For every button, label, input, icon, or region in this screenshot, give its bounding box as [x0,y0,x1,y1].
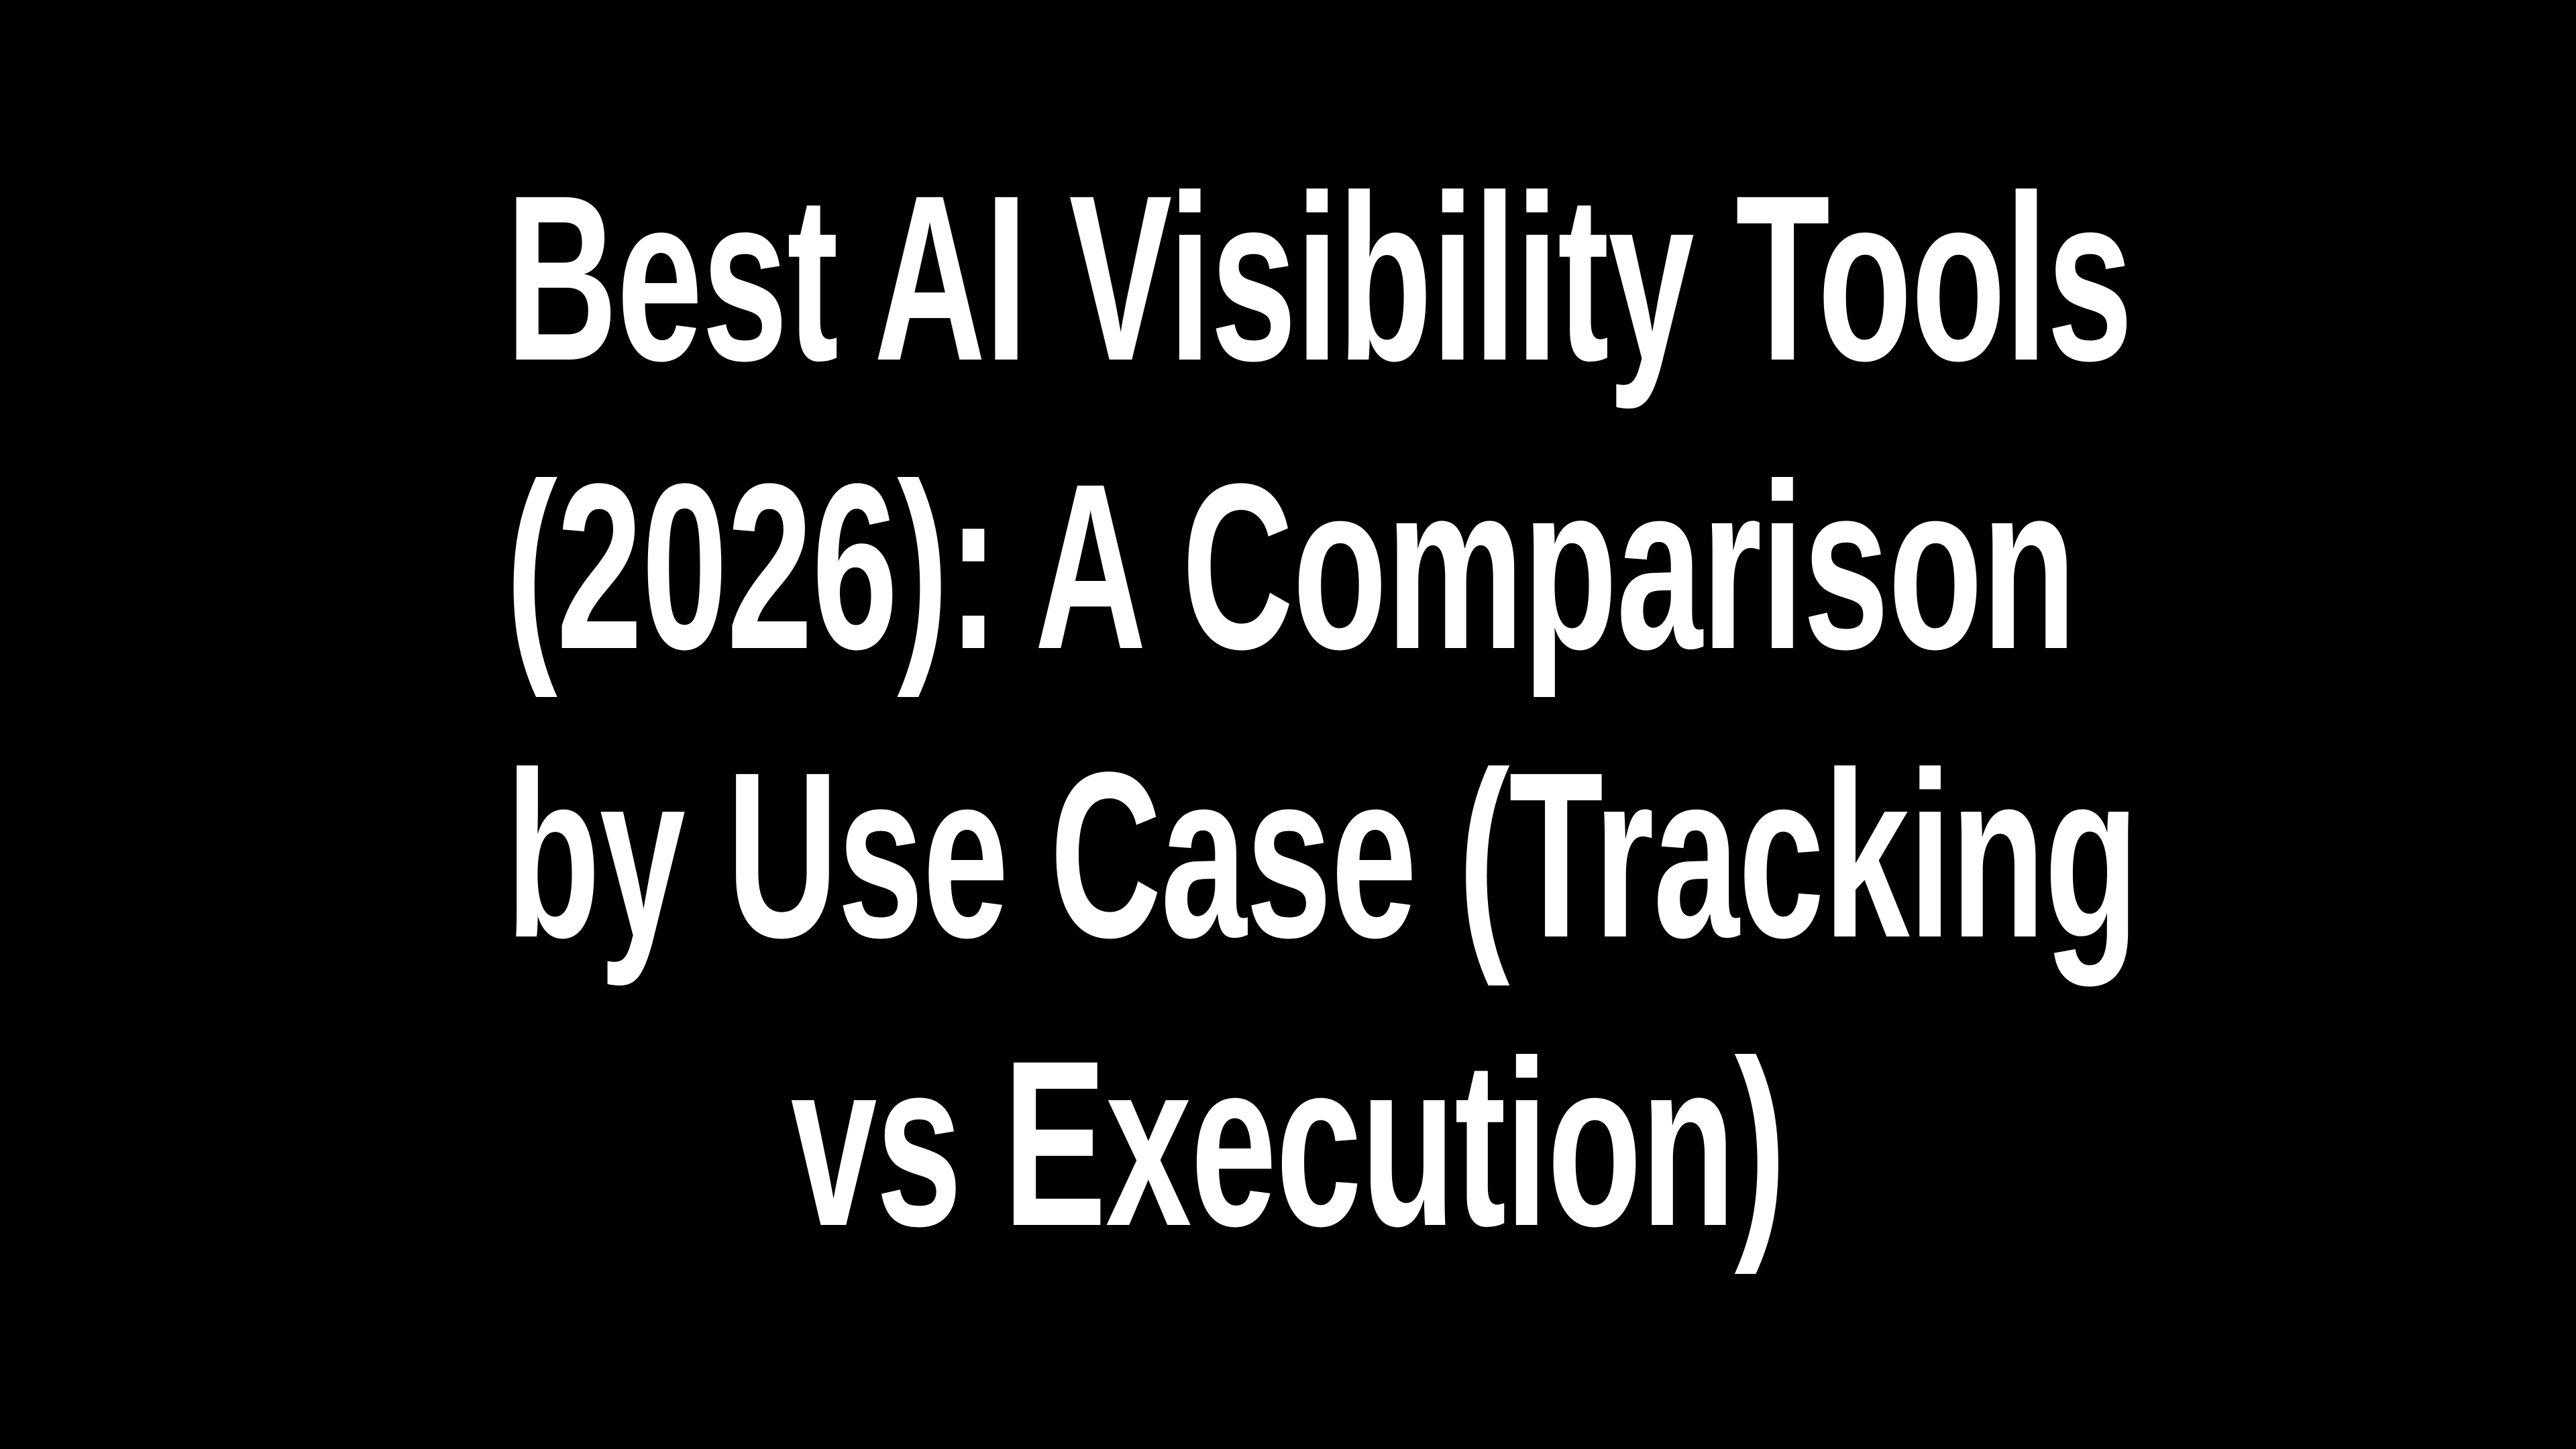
title-card: Best AI Visibility Tools (2026): A Compa… [0,0,2576,1449]
title-line-3: by Use Case (Tracking [506,710,2070,999]
title-line-4: vs Execution) [506,999,2070,1287]
title-line-1: Best AI Visibility Tools [506,133,2070,422]
title-block: Best AI Visibility Tools (2026): A Compa… [94,133,2482,1287]
title-line-2: (2026): A Comparison [506,422,2070,710]
